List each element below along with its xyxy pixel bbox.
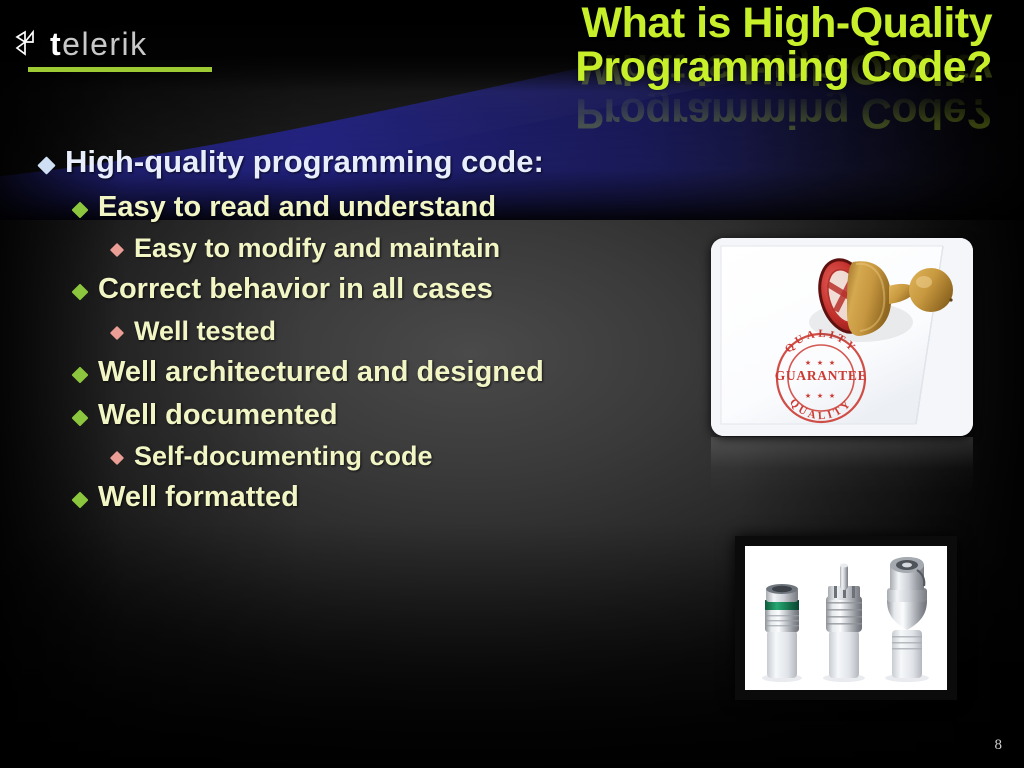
telerik-logo[interactable]: telerik: [14, 24, 214, 72]
bullet-text: Correct behavior in all cases: [98, 274, 493, 304]
bullet-item: Well architectured and designed: [0, 357, 720, 387]
logo-underline: [28, 67, 212, 72]
bullet-item: Well tested: [0, 317, 720, 345]
bullet-list: High-quality programming code: Easy to r…: [0, 146, 720, 525]
logo-letter-t: t: [50, 26, 62, 62]
bullet-item: Well documented: [0, 400, 720, 430]
presentation-slide: telerik What is High-Quality What is Hig…: [0, 0, 1024, 768]
bullet-text: Well formatted: [98, 482, 299, 512]
bullet-diamond-icon: [110, 326, 124, 340]
title-line-1: What is High-Quality What is High-Qualit…: [352, 2, 992, 46]
bullet-diamond-icon: [72, 284, 89, 301]
bullet-text: Easy to modify and maintain: [134, 234, 500, 262]
svg-text:★ ★ ★: ★ ★ ★: [805, 359, 837, 367]
bullet-text: Well documented: [98, 400, 338, 430]
title-line-2-text: Programming Code?: [575, 43, 992, 91]
logo-letters-rest: elerik: [62, 26, 147, 62]
bullet-item: High-quality programming code:: [0, 146, 720, 179]
svg-text:★ ★ ★: ★ ★ ★: [805, 392, 837, 400]
page-number: 8: [995, 737, 1003, 754]
bullet-item: Easy to modify and maintain: [0, 234, 720, 262]
bullet-item: Self-documenting code: [0, 442, 720, 470]
bullet-diamond-icon: [72, 367, 89, 384]
telerik-wordmark: telerik: [50, 28, 148, 60]
bullet-item: Correct behavior in all cases: [0, 274, 720, 304]
bullet-text: Well tested: [134, 317, 276, 345]
bullet-text: High-quality programming code:: [65, 146, 544, 179]
bullet-text: Well architectured and designed: [98, 357, 544, 387]
bullet-diamond-icon: [110, 451, 124, 465]
coaxial-connectors-photo: [735, 536, 957, 700]
telerik-diamond-icon: [14, 29, 44, 59]
svg-text:GUARANTEE: GUARANTEE: [775, 368, 868, 383]
bullet-diamond-icon: [72, 201, 89, 218]
bullet-diamond-icon: [37, 156, 55, 174]
bullet-item: Easy to read and understand: [0, 192, 720, 222]
bullet-diamond-icon: [72, 409, 89, 426]
bullet-diamond-icon: [72, 492, 89, 509]
bullet-diamond-icon: [110, 243, 124, 257]
title-line-1-text: What is High-Quality: [582, 0, 992, 47]
title-line-2: Programming Code? Programming Code?: [352, 46, 992, 90]
quality-guarantee-stamp-photo: GUARANTEE ★ ★ ★ ★ ★ ★ QUALITY QUALITY: [711, 238, 973, 436]
bullet-text: Easy to read and understand: [98, 192, 496, 222]
bullet-item: Well formatted: [0, 482, 720, 512]
slide-title: What is High-Quality What is High-Qualit…: [352, 2, 992, 90]
bullet-text: Self-documenting code: [134, 442, 433, 470]
